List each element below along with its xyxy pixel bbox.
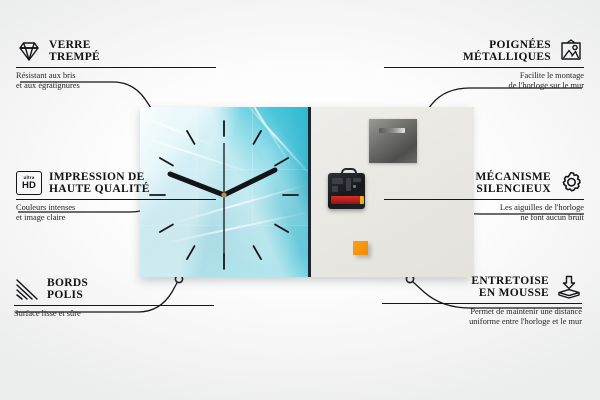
foam-spacer xyxy=(353,241,368,255)
battery xyxy=(331,196,360,204)
feature-title-line2: POLIS xyxy=(47,289,88,302)
feature-divider xyxy=(384,67,584,68)
clock-mechanism xyxy=(328,173,365,209)
hanger-plate xyxy=(369,119,417,163)
feature-desc-line1: Permet de maintenir une distance xyxy=(382,307,582,317)
feature-divider xyxy=(16,199,216,200)
feature-entretoise-en-mousse: ENTRETOISE EN MOUSSE Permet de maintenir… xyxy=(382,274,582,327)
feature-description: Les aiguilles de l'horloge ne font aucun… xyxy=(384,203,584,223)
feature-title-line2: HAUTE QUALITÉ xyxy=(49,183,150,196)
hanger-slot xyxy=(379,128,405,133)
mechanism-hanger-loop xyxy=(341,168,357,177)
feature-header: ultra HD IMPRESSION DE HAUTE QUALITÉ xyxy=(16,170,216,196)
foam-spacer-icon xyxy=(556,274,582,300)
feature-desc-line1: Facilite le montage xyxy=(384,71,584,81)
feature-title: VERRE TREMPÉ xyxy=(49,39,100,64)
feature-desc-line2: et aux égratignures xyxy=(16,81,216,91)
feature-title-line2: TREMPÉ xyxy=(49,51,100,64)
feature-impression-haute-qualite: ultra HD IMPRESSION DE HAUTE QUALITÉ Cou… xyxy=(16,170,216,223)
feature-header: POIGNÉES MÉTALLIQUES xyxy=(384,38,584,64)
feature-description: Résistant aux bris et aux égratignures xyxy=(16,71,216,91)
feature-divider xyxy=(16,67,216,68)
ultra-hd-large-text: HD xyxy=(22,181,36,191)
feature-title-line1: BORDS xyxy=(47,277,88,290)
feature-header: MÉCANISME SILENCIEUX xyxy=(384,170,584,196)
feature-title-line1: POIGNÉES xyxy=(463,39,551,52)
feature-title: IMPRESSION DE HAUTE QUALITÉ xyxy=(49,171,150,196)
feature-verre-trempe: VERRE TREMPÉ Résistant aux bris et aux é… xyxy=(16,38,216,91)
feature-description: Couleurs intenses et image claire xyxy=(16,203,216,223)
feature-desc-line1: Résistant aux bris xyxy=(16,71,216,81)
feature-title-line2: MÉTALLIQUES xyxy=(463,51,551,64)
feature-poignees-metalliques: POIGNÉES MÉTALLIQUES Facilite le montage xyxy=(384,38,584,91)
feature-divider xyxy=(382,303,582,304)
feature-title: ENTRETOISE EN MOUSSE xyxy=(471,275,549,300)
feature-title-line2: EN MOUSSE xyxy=(471,287,549,300)
feature-divider xyxy=(14,305,214,306)
feature-title-line1: VERRE xyxy=(49,39,100,52)
feature-description: Surface lisse et sûre xyxy=(14,309,214,319)
feature-header: ENTRETOISE EN MOUSSE xyxy=(382,274,582,300)
feature-desc-line1: Les aiguilles de l'horloge xyxy=(384,203,584,213)
feature-title-line1: ENTRETOISE xyxy=(471,275,549,288)
feature-divider xyxy=(384,199,584,200)
feature-desc-line2: de l'horloge sur le mur xyxy=(384,81,584,91)
polished-edge-icon xyxy=(14,276,40,302)
feature-description: Facilite le montage de l'horloge sur le … xyxy=(384,71,584,91)
ultra-hd-icon: ultra HD xyxy=(16,170,42,196)
picture-hanger-icon xyxy=(558,38,584,64)
feature-bords-polis: BORDS POLIS Surface lisse et sûre xyxy=(14,276,214,319)
feature-mecanisme-silencieux: MÉCANISME SILENCIEUX Les aiguilles de l'… xyxy=(384,170,584,223)
feature-desc-line2: uniforme entre l'horloge et le mur xyxy=(382,317,582,327)
feature-desc-line1: Surface lisse et sûre xyxy=(14,309,214,319)
product-infographic: VERRE TREMPÉ Résistant aux bris et aux é… xyxy=(0,0,600,400)
gear-icon xyxy=(558,170,584,196)
feature-desc-line2: ne font aucun bruit xyxy=(384,213,584,223)
battery-positive-terminal xyxy=(360,196,364,204)
feature-header: VERRE TREMPÉ xyxy=(16,38,216,64)
feature-title-line2: SILENCIEUX xyxy=(475,183,551,196)
feature-description: Permet de maintenir une distance uniform… xyxy=(382,307,582,327)
feature-title-line1: MÉCANISME xyxy=(475,171,551,184)
feature-header: BORDS POLIS xyxy=(14,276,214,302)
feature-title-line1: IMPRESSION DE xyxy=(49,171,150,184)
feature-title: BORDS POLIS xyxy=(47,277,88,302)
feature-desc-line1: Couleurs intenses xyxy=(16,203,216,213)
clock-hour-hand xyxy=(224,170,275,195)
feature-title: POIGNÉES MÉTALLIQUES xyxy=(463,39,551,64)
diamond-icon xyxy=(16,38,42,64)
clock-center-cap xyxy=(221,192,226,197)
feature-title: MÉCANISME SILENCIEUX xyxy=(475,171,551,196)
feature-desc-line2: et image claire xyxy=(16,213,216,223)
